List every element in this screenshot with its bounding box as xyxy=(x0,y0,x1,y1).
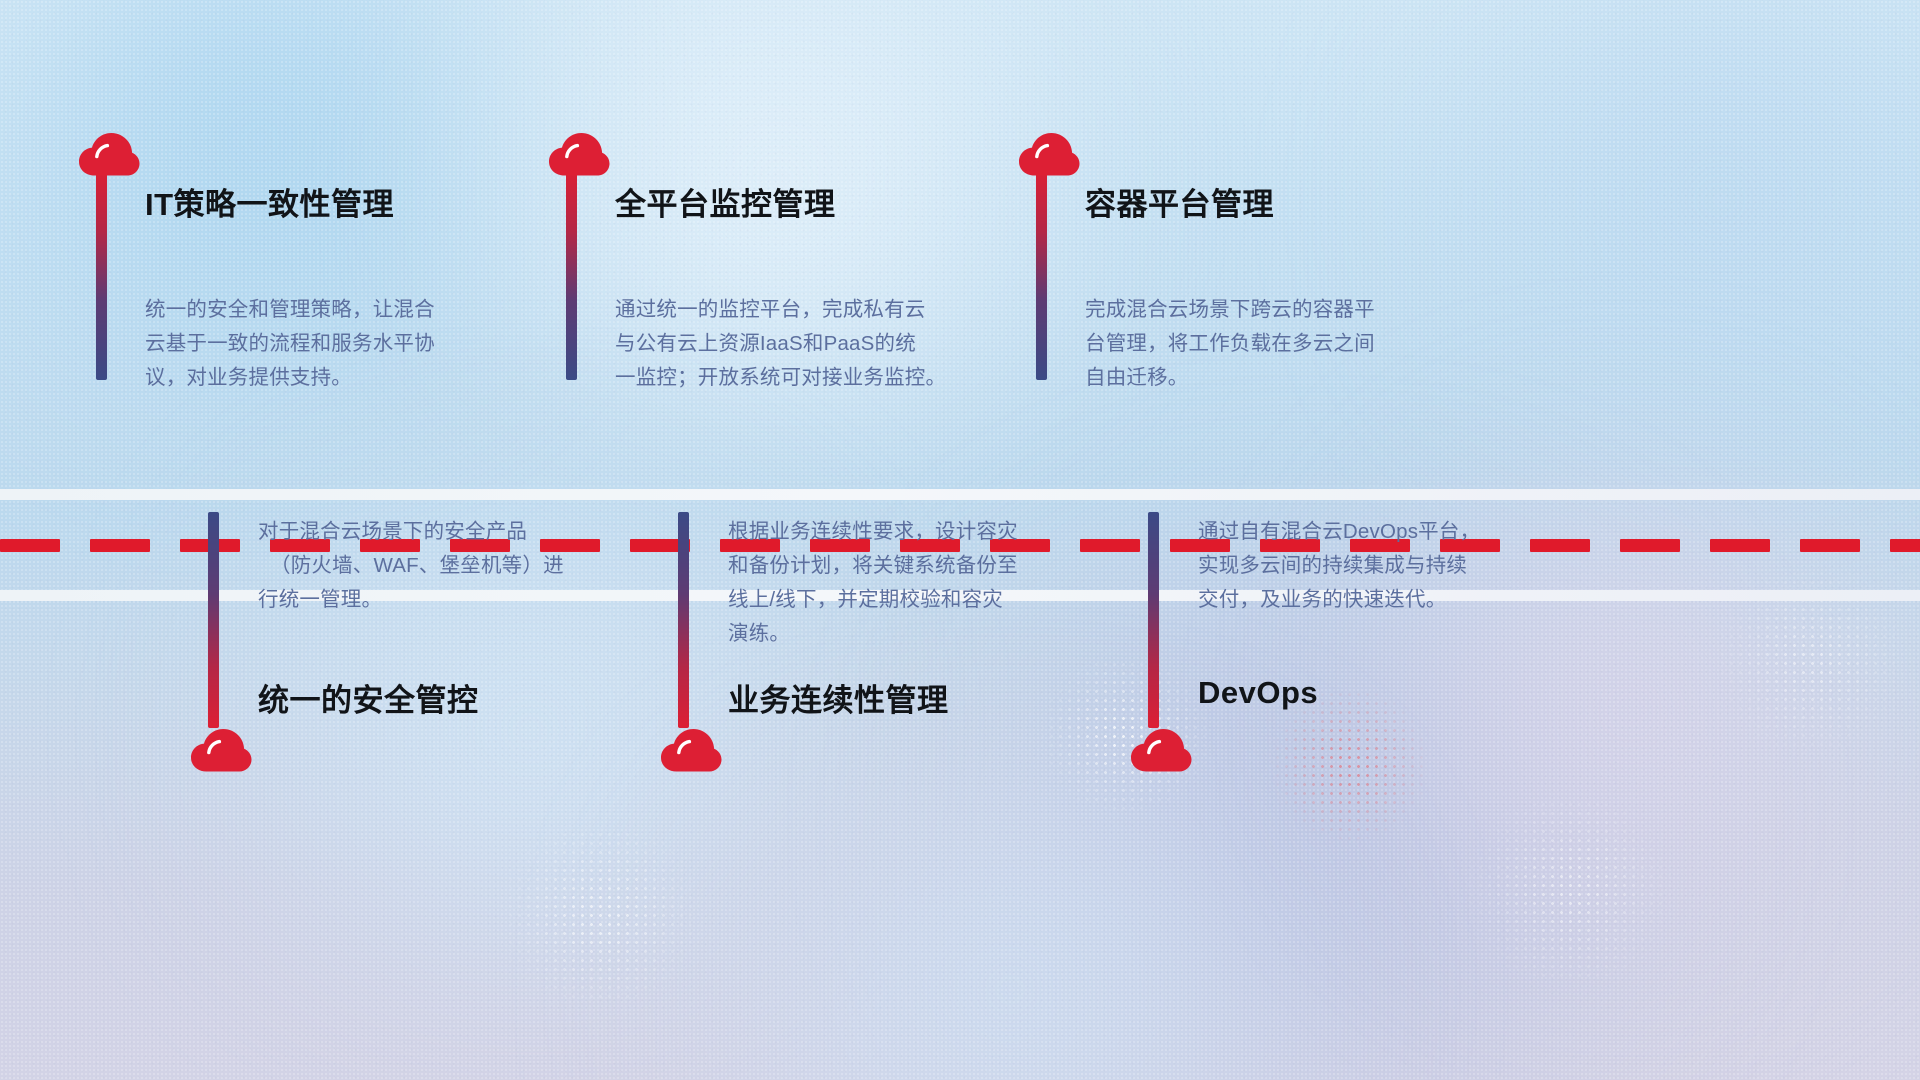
cloud-pin-icon xyxy=(660,728,722,772)
connector-stem xyxy=(566,168,577,380)
description-line: 统一的安全和管理策略，让混合 xyxy=(145,293,435,327)
description-line: 交付，及业务的快速迭代。 xyxy=(1198,583,1480,617)
description-line: 通过自有混合云DevOps平台， xyxy=(1198,515,1480,549)
description-line: 行统一管理。 xyxy=(258,583,564,617)
description-line: 与公有云上资源IaaS和PaaS的统 xyxy=(615,327,946,361)
description-line: 实现多云间的持续集成与持续 xyxy=(1198,549,1480,583)
capability-description: 对于混合云场景下的安全产品（防火墙、WAF、堡垒机等）进行统一管理。 xyxy=(258,515,564,617)
infographic-content: IT策略一致性管理统一的安全和管理策略，让混合云基于一致的流程和服务水平协议，对… xyxy=(0,0,1920,1080)
cloud-pin-icon xyxy=(1130,728,1192,772)
capability-title: 统一的安全管控 xyxy=(258,675,479,720)
cloud-pin-icon xyxy=(548,132,610,176)
description-line: 对于混合云场景下的安全产品 xyxy=(258,515,564,549)
cloud-pin-icon xyxy=(190,728,252,772)
cloud-pin-icon xyxy=(78,132,140,176)
cloud-pin-icon xyxy=(1018,132,1080,176)
capability-title: 全平台监控管理 xyxy=(615,179,836,224)
description-line: 议，对业务提供支持。 xyxy=(145,361,435,395)
capability-description: 通过统一的监控平台，完成私有云与公有云上资源IaaS和PaaS的统一监控；开放系… xyxy=(615,293,946,395)
description-line: 台管理，将工作负载在多云之间 xyxy=(1085,327,1375,361)
connector-stem xyxy=(208,512,219,728)
connector-stem xyxy=(1036,168,1047,380)
description-line: 线上/线下，并定期校验和容灾 xyxy=(728,583,1018,617)
capability-title: IT策略一致性管理 xyxy=(145,179,394,224)
description-line: 一监控；开放系统可对接业务监控。 xyxy=(615,361,946,395)
capability-description: 根据业务连续性要求，设计容灾和备份计划，将关键系统备份至线上/线下，并定期校验和… xyxy=(728,515,1018,651)
capability-title: 业务连续性管理 xyxy=(728,675,949,720)
capability-description: 统一的安全和管理策略，让混合云基于一致的流程和服务水平协议，对业务提供支持。 xyxy=(145,293,435,395)
description-line: 通过统一的监控平台，完成私有云 xyxy=(615,293,946,327)
description-line: 根据业务连续性要求，设计容灾 xyxy=(728,515,1018,549)
capability-title: 容器平台管理 xyxy=(1085,179,1274,224)
capability-description: 完成混合云场景下跨云的容器平台管理，将工作负载在多云之间自由迁移。 xyxy=(1085,293,1375,395)
description-line: （防火墙、WAF、堡垒机等）进 xyxy=(258,549,564,583)
capability-description: 通过自有混合云DevOps平台，实现多云间的持续集成与持续交付，及业务的快速迭代… xyxy=(1198,515,1480,617)
description-line: 演练。 xyxy=(728,617,1018,651)
connector-stem xyxy=(96,168,107,380)
description-line: 和备份计划，将关键系统备份至 xyxy=(728,549,1018,583)
description-line: 自由迁移。 xyxy=(1085,361,1375,395)
description-line: 完成混合云场景下跨云的容器平 xyxy=(1085,293,1375,327)
capability-title: DevOps xyxy=(1198,675,1318,711)
connector-stem xyxy=(678,512,689,728)
description-line: 云基于一致的流程和服务水平协 xyxy=(145,327,435,361)
connector-stem xyxy=(1148,512,1159,728)
